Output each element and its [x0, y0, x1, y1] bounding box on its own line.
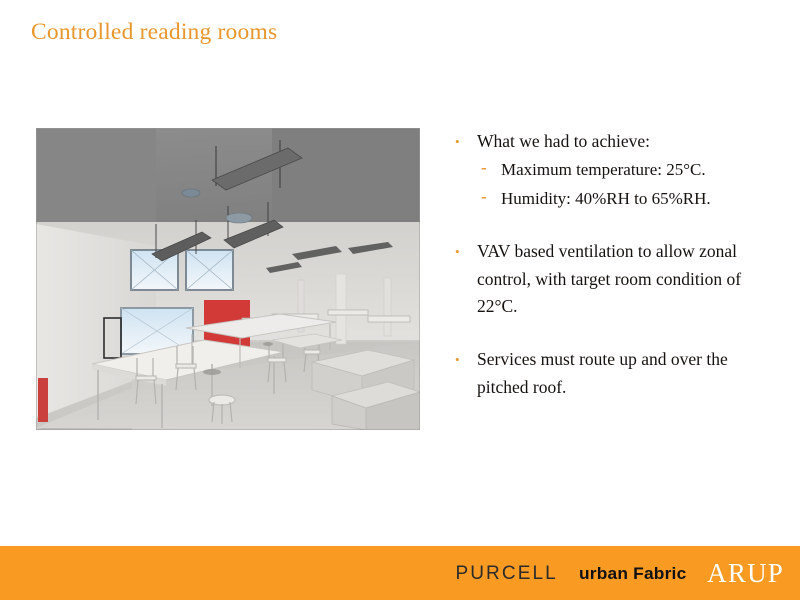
footer-bar: PURCELL urban Fabric ARUP: [0, 546, 800, 600]
room-render-image: [36, 128, 420, 430]
dash-icon: -: [481, 186, 501, 205]
sub-bullet-text: Maximum temperature: 25°C.: [501, 157, 780, 184]
bullet-dot-icon: •: [455, 346, 477, 366]
sub-bullet-text: Humidity: 40%RH to 65%RH.: [501, 186, 780, 213]
purcell-logo: PURCELL: [455, 564, 557, 583]
page-title: Controlled reading rooms: [31, 19, 277, 46]
room-render-svg: [36, 128, 420, 430]
bullet-text: What we had to achieve:: [477, 128, 780, 155]
footer-logos: PURCELL urban Fabric ARUP: [455, 546, 784, 600]
presentation-slide: Controlled reading rooms: [0, 0, 800, 600]
bullet-text: Services must route up and over the pitc…: [477, 346, 780, 401]
dash-icon: -: [481, 157, 501, 176]
urban-fabric-logo: urban Fabric: [579, 565, 686, 582]
bullet-block-1: • What we had to achieve: - Maximum temp…: [455, 128, 780, 212]
bullet-block-2: • VAV based ventilation to allow zonal c…: [455, 238, 780, 320]
sub-bullet-item: - Humidity: 40%RH to 65%RH.: [481, 186, 780, 213]
arup-logo: ARUP: [707, 560, 784, 587]
bullet-item: • What we had to achieve:: [455, 128, 780, 155]
bullet-item: • VAV based ventilation to allow zonal c…: [455, 238, 780, 320]
sub-bullet-item: - Maximum temperature: 25°C.: [481, 157, 780, 184]
bullet-dot-icon: •: [455, 238, 477, 258]
bullet-list: • What we had to achieve: - Maximum temp…: [455, 128, 780, 403]
bullet-dot-icon: •: [455, 128, 477, 148]
bullet-item: • Services must route up and over the pi…: [455, 346, 780, 401]
bullet-block-3: • Services must route up and over the pi…: [455, 346, 780, 401]
bullet-text: VAV based ventilation to allow zonal con…: [477, 238, 780, 320]
